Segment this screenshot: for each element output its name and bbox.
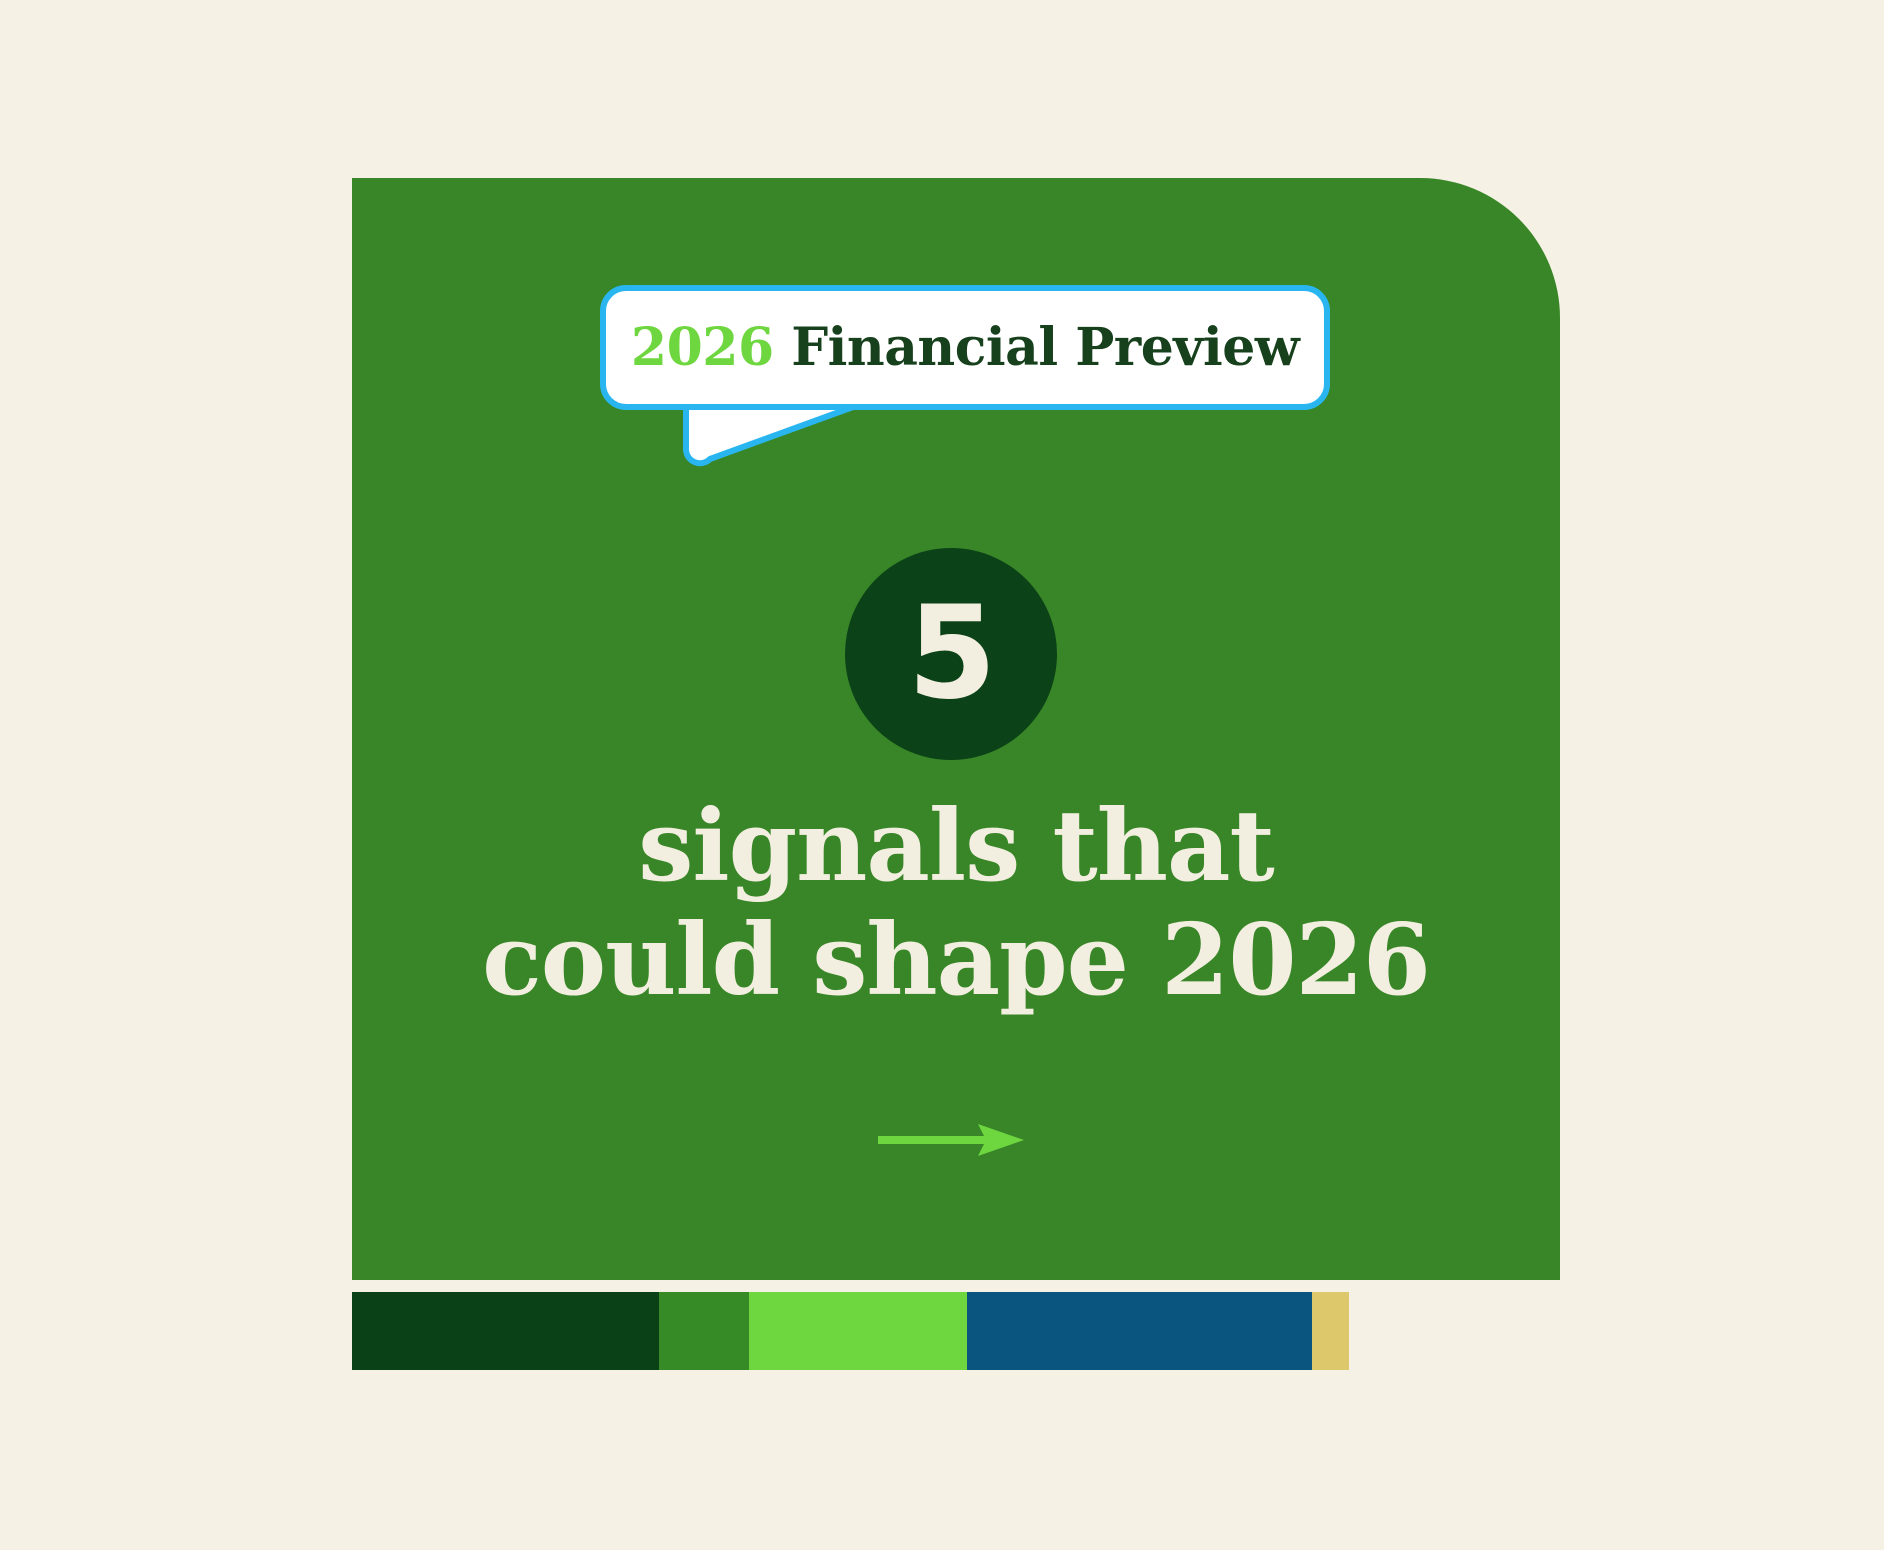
speech-bubble-badge: 2026 Financial Preview: [600, 285, 1330, 465]
badge-year: 2026: [631, 317, 774, 378]
badge-label: Financial Preview: [791, 317, 1299, 378]
swatch-dark-green: [352, 1292, 659, 1370]
headline-line-1: signals that: [352, 790, 1560, 904]
headline: signals that could shape 2026: [352, 790, 1560, 1017]
swatch-mid-green: [659, 1292, 750, 1370]
color-swatch-bar: [352, 1292, 1560, 1370]
swatch-blue: [967, 1292, 1312, 1370]
arrow-right-icon[interactable]: [878, 1118, 1024, 1162]
swatch-light-green: [749, 1292, 966, 1370]
headline-line-2: could shape 2026: [352, 904, 1560, 1018]
number-badge-value: 5: [907, 590, 994, 718]
poster-canvas: 2026 Financial Preview 5 signals that co…: [0, 0, 1884, 1550]
badge-text: 2026 Financial Preview: [631, 322, 1299, 374]
swatch-gold: [1312, 1292, 1348, 1370]
number-badge-circle: 5: [845, 548, 1057, 760]
speech-bubble-body: 2026 Financial Preview: [600, 285, 1330, 410]
